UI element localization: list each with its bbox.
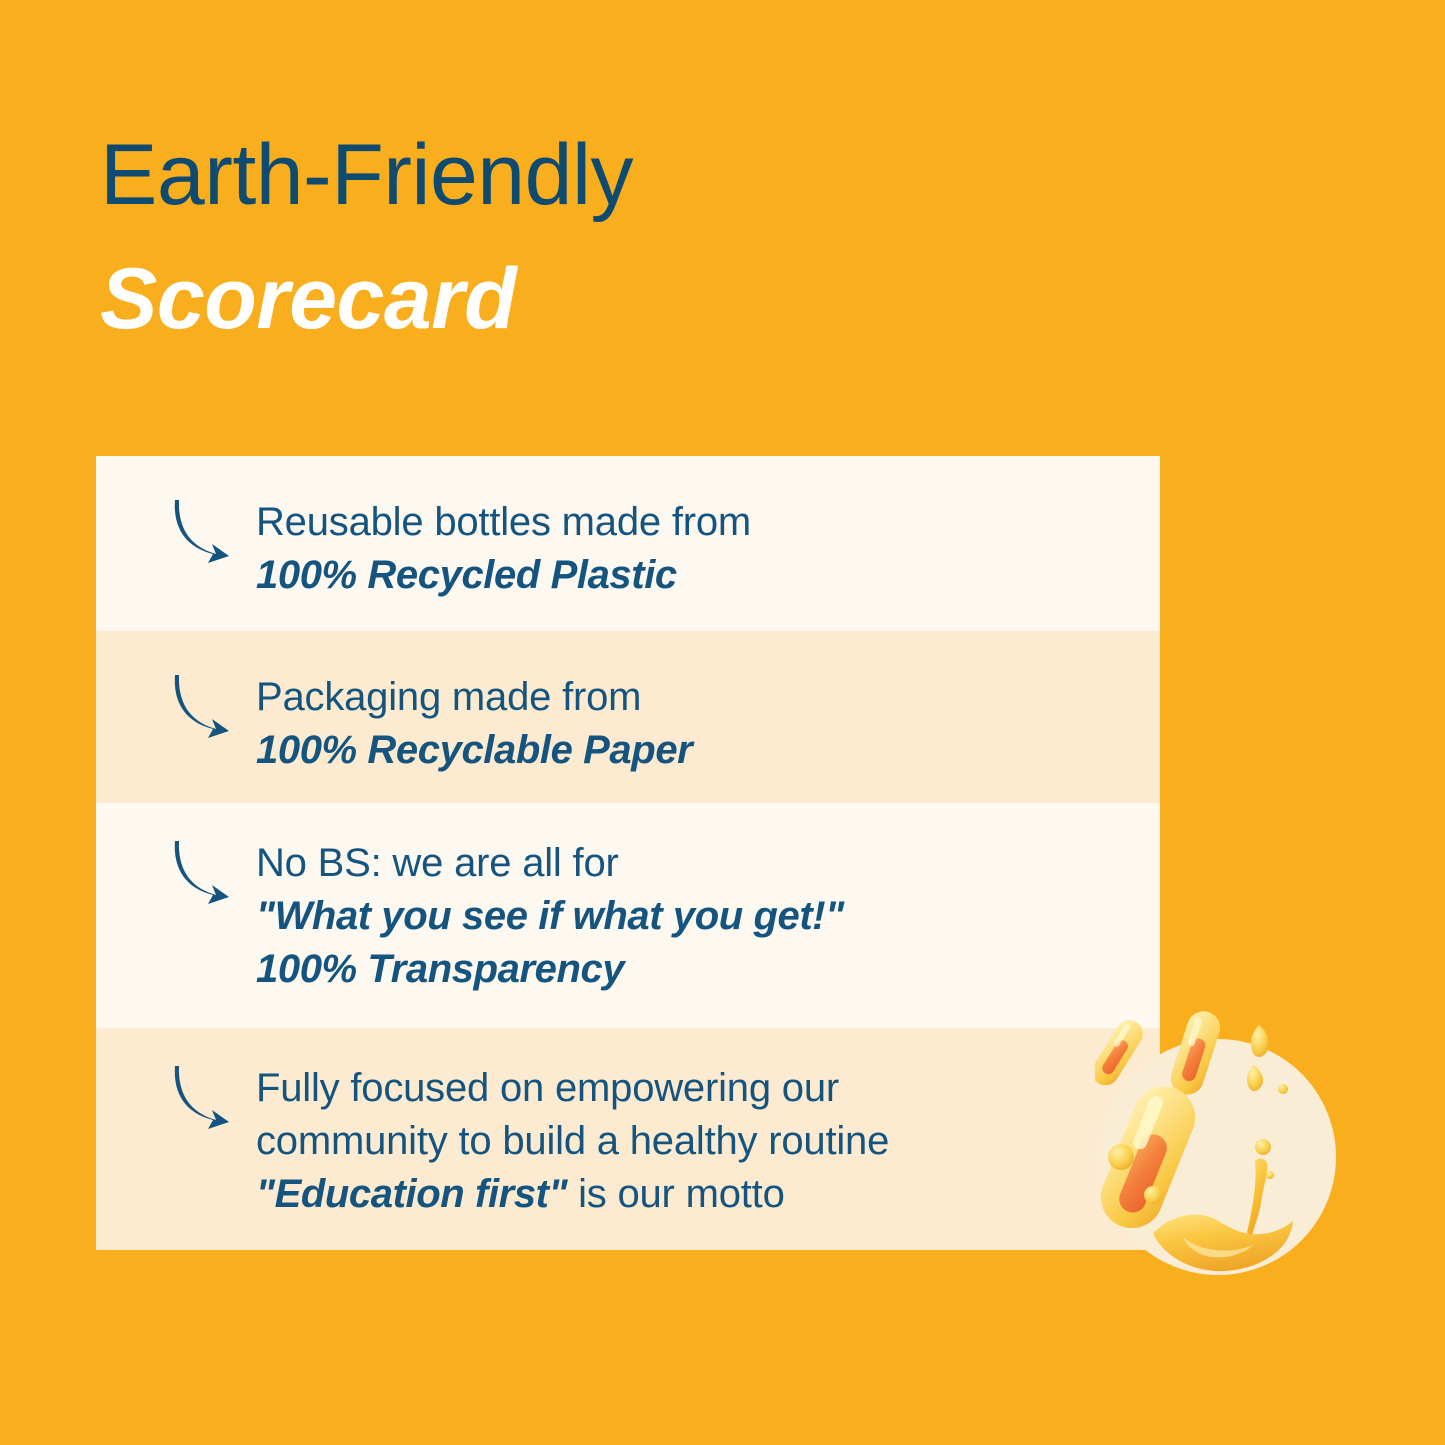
row-line-2: 100% Transparency bbox=[256, 943, 844, 996]
curved-arrow-icon bbox=[172, 496, 234, 568]
scorecard-row-transparency: No BS: we are all for "What you see if w… bbox=[96, 803, 1160, 1028]
scorecard-row-text: Packaging made from 100% Recyclable Pape… bbox=[256, 669, 692, 777]
row-line-0: Reusable bottles made from bbox=[256, 496, 751, 549]
scorecard-row-text: Fully focused on empowering our communit… bbox=[256, 1060, 889, 1220]
row-line-1: community to build a healthy routine bbox=[256, 1115, 889, 1168]
row-line-0: Packaging made from bbox=[256, 671, 692, 724]
page-title-line1: Earth-Friendly bbox=[100, 132, 1200, 218]
row-line-2-emphasis: "Education first" bbox=[256, 1172, 567, 1216]
scorecard-panel: Reusable bottles made from 100% Recycled… bbox=[96, 456, 1160, 1250]
curved-arrow-icon bbox=[172, 837, 234, 909]
row-line-1: 100% Recycled Plastic bbox=[256, 549, 751, 602]
row-line-0: No BS: we are all for bbox=[256, 837, 844, 890]
scorecard-row-text: Reusable bottles made from 100% Recycled… bbox=[256, 494, 751, 602]
scorecard-row-community-education: Fully focused on empowering our communit… bbox=[96, 1028, 1160, 1250]
curved-arrow-icon bbox=[172, 1062, 234, 1134]
row-line-2: "Education first" is our motto bbox=[256, 1168, 889, 1221]
scorecard-row-recyclable-paper: Packaging made from 100% Recyclable Pape… bbox=[96, 631, 1160, 803]
row-line-1: "What you see if what you get!" bbox=[256, 890, 844, 943]
scorecard-row-recycled-plastic: Reusable bottles made from 100% Recycled… bbox=[96, 456, 1160, 631]
row-line-0: Fully focused on empowering our bbox=[256, 1062, 889, 1115]
page-title-line2: Scorecard bbox=[100, 256, 1200, 342]
row-line-2-plain: is our motto bbox=[567, 1172, 784, 1216]
scorecard-row-text: No BS: we are all for "What you see if w… bbox=[256, 835, 844, 995]
row-line-1: 100% Recyclable Paper bbox=[256, 724, 692, 777]
curved-arrow-icon bbox=[172, 671, 234, 743]
page-heading: Earth-Friendly Scorecard bbox=[100, 132, 1200, 342]
